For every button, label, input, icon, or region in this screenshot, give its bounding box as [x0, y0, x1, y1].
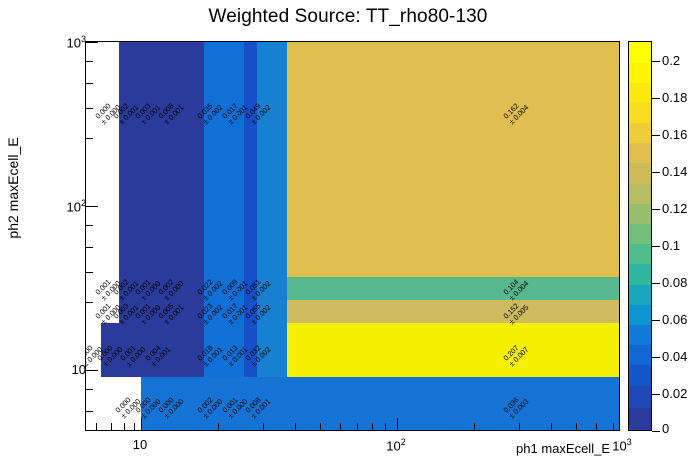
colorbar-segment: [629, 305, 651, 325]
colorbar-segment: [629, 143, 651, 163]
colorbar-segment: [629, 386, 651, 408]
colorbar-segment: [629, 103, 651, 123]
y-minor-tick: [86, 247, 93, 248]
y-minor-tick: [86, 302, 93, 303]
y-axis-title-wrap: ph2 maxEcell_E: [0, 0, 40, 472]
colorbar-segment: [629, 184, 651, 204]
x-minor-tick: [519, 423, 520, 430]
x-minor-tick: [96, 423, 97, 430]
colorbar-tick-label: 0.14: [662, 165, 687, 178]
y-minor-tick: [86, 389, 93, 390]
y-major-tick: [86, 206, 98, 207]
colorbar-tick: [652, 431, 660, 432]
colorbar-tick-label: 0: [662, 422, 669, 435]
x-minor-tick: [385, 423, 386, 430]
colorbar-segment: [629, 365, 651, 386]
y-tick-label-1000: 103: [26, 34, 86, 50]
x-minor-tick: [320, 423, 321, 430]
heatmap-cell-region: [257, 42, 287, 377]
colorbar-tick: [652, 61, 660, 62]
colorbar-segment: [629, 325, 651, 345]
x-minor-tick: [474, 423, 475, 430]
heatmap-band-yellow: [287, 323, 620, 377]
colorbar-segment: [629, 83, 651, 103]
y-minor-tick: [86, 61, 93, 62]
heatmap-plot-area[interactable]: 0.000± 0.000 0.002± 0.001 0.003± 0.001 0…: [85, 41, 620, 431]
x-major-tick: [397, 418, 398, 430]
colorbar-tick-label: 0.16: [662, 128, 687, 141]
y-minor-tick: [86, 225, 93, 226]
x-minor-tick: [596, 423, 597, 430]
y-minor-tick: [86, 108, 93, 109]
colorbar[interactable]: [628, 41, 652, 431]
x-major-tick: [141, 418, 142, 430]
x-minor-tick: [613, 423, 614, 430]
x-minor-tick: [551, 423, 552, 430]
colorbar-tick-label: 0.12: [662, 202, 687, 215]
x-minor-tick: [357, 423, 358, 430]
colorbar-tick-label: 0.18: [662, 91, 687, 104]
x-minor-tick: [295, 423, 296, 430]
colorbar-tick-label: 0.04: [662, 350, 687, 363]
colorbar-segment: [629, 244, 651, 264]
colorbar-segment: [629, 163, 651, 184]
x-minor-tick: [576, 423, 577, 430]
colorbar-tick: [652, 320, 660, 321]
colorbar-tick-label: 0.2: [662, 54, 680, 67]
x-axis-title: ph1 maxEcell_E: [430, 441, 610, 456]
colorbar-segment: [629, 285, 651, 305]
colorbar-tick-label: 0.06: [662, 313, 687, 326]
x-minor-tick: [263, 423, 264, 430]
y-tick-label-100: 102: [26, 198, 86, 214]
colorbar-segment: [629, 224, 651, 244]
colorbar-segment: [629, 63, 651, 83]
x-minor-tick: [134, 423, 135, 430]
plot-canvas: Weighted Source: TT_rho80-130 ph2 maxEce…: [0, 0, 696, 472]
colorbar-tick: [652, 135, 660, 136]
y-tick-label-10: 10: [26, 362, 86, 377]
y-minor-tick: [86, 411, 93, 412]
colorbar-segment: [629, 204, 651, 224]
y-axis-title: ph2 maxEcell_E: [5, 23, 21, 353]
x-minor-tick: [340, 423, 341, 430]
y-minor-tick: [86, 83, 93, 84]
page-title: Weighted Source: TT_rho80-130: [0, 6, 696, 28]
y-major-tick: [86, 370, 98, 371]
colorbar-segment: [629, 42, 651, 63]
x-minor-tick: [111, 423, 112, 430]
colorbar-segment: [629, 345, 651, 365]
y-major-tick: [86, 42, 98, 43]
heatmap-band-green: [287, 277, 620, 300]
colorbar-tick-label: 0.08: [662, 276, 687, 289]
x-minor-tick: [372, 423, 373, 430]
x-tick-label-100: 102: [366, 437, 426, 453]
y-minor-tick: [86, 138, 93, 139]
x-minor-tick: [124, 423, 125, 430]
colorbar-tick-label: 0.02: [662, 387, 687, 400]
colorbar-tick: [652, 172, 660, 173]
colorbar-segment: [629, 123, 651, 143]
heatmap-band-gold: [287, 42, 620, 277]
colorbar-tick: [652, 98, 660, 99]
colorbar-tick: [652, 283, 660, 284]
colorbar-tick: [652, 246, 660, 247]
y-minor-tick: [86, 272, 93, 273]
x-tick-label-10: 10: [110, 437, 170, 452]
colorbar-tick-label: 0.1: [662, 239, 680, 252]
colorbar-tick: [652, 394, 660, 395]
x-minor-tick: [218, 423, 219, 430]
heatmap-band-olive: [287, 300, 620, 323]
colorbar-tick: [652, 209, 660, 210]
heatmap-cell-region: [204, 42, 244, 377]
colorbar-tick: [652, 357, 660, 358]
colorbar-segment: [629, 408, 651, 431]
colorbar-segment: [629, 264, 651, 285]
